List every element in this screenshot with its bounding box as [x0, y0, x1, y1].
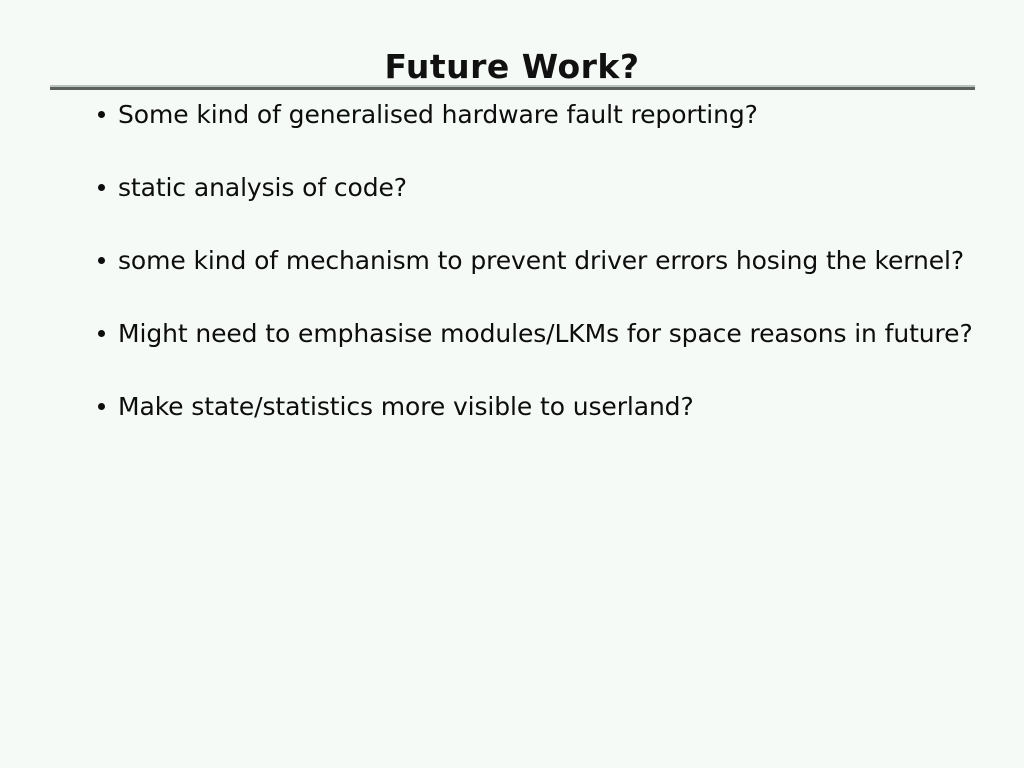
- list-item-label: Might need to emphasise modules/LKMs for…: [118, 315, 996, 349]
- presentation-slide: Future Work? Some kind of generalised ha…: [0, 0, 1024, 768]
- bullet-dot-icon: [98, 257, 105, 264]
- bullet-dot-icon: [98, 330, 105, 337]
- bullet-dot-icon: [98, 403, 105, 410]
- list-item: Some kind of generalised hardware fault …: [96, 96, 996, 169]
- list-item-label: some kind of mechanism to prevent driver…: [118, 242, 996, 276]
- list-item: Make state/statistics more visible to us…: [96, 388, 996, 461]
- list-item: some kind of mechanism to prevent driver…: [96, 242, 996, 315]
- list-item: static analysis of code?: [96, 169, 996, 242]
- divider-shadow: [50, 87, 975, 90]
- list-item-label: Some kind of generalised hardware fault …: [118, 96, 996, 130]
- bullet-dot-icon: [98, 111, 105, 118]
- page-title: Future Work?: [0, 48, 1024, 86]
- title-divider: [50, 85, 975, 90]
- list-item-label: Make state/statistics more visible to us…: [118, 388, 996, 422]
- bullet-list: Some kind of generalised hardware fault …: [96, 96, 996, 461]
- list-item: Might need to emphasise modules/LKMs for…: [96, 315, 996, 388]
- bullet-dot-icon: [98, 184, 105, 191]
- list-item-label: static analysis of code?: [118, 169, 996, 203]
